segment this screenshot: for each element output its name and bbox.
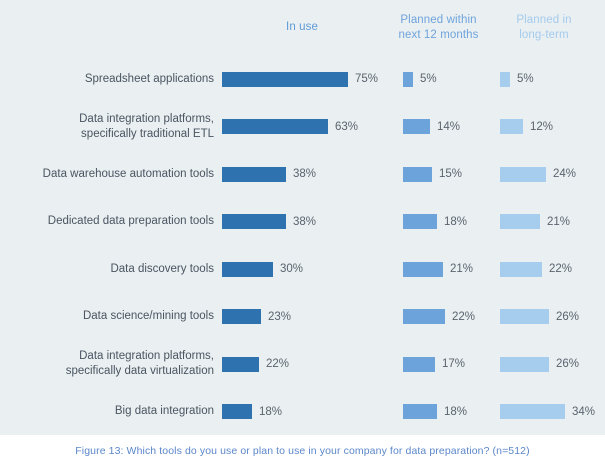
table-row: Data discovery tools30%21%22%: [0, 247, 605, 291]
bar-in-use: [222, 167, 286, 182]
bar-value-planned-long-term: 24%: [553, 168, 576, 180]
bar-group-planned-long-term: 22%: [500, 247, 572, 291]
row-label: Dedicated data preparation tools: [8, 200, 214, 244]
row-label: Data integration platforms,specifically …: [8, 105, 214, 149]
row-label-line1: Data discovery tools: [110, 262, 214, 277]
bar-planned-long-term: [500, 214, 540, 229]
bar-group-planned-12-months: 18%: [403, 200, 467, 244]
bar-group-in-use: 38%: [222, 152, 316, 196]
column-header-in-use: In use: [222, 20, 382, 35]
column-header-long-term: Planned in long-term: [494, 13, 594, 43]
bar-group-planned-12-months: 14%: [403, 105, 460, 149]
bar-planned-12-months: [403, 357, 435, 372]
figure-caption: Figure 13: Which tools do you use or pla…: [0, 445, 605, 457]
bar-value-planned-12-months: 22%: [452, 311, 475, 323]
table-row: Data science/mining tools23%22%26%: [0, 295, 605, 339]
bar-planned-long-term: [500, 404, 565, 419]
bar-in-use: [222, 357, 259, 372]
bar-value-in-use: 23%: [268, 311, 291, 323]
bar-value-planned-12-months: 18%: [444, 406, 467, 418]
bar-in-use: [222, 404, 252, 419]
bar-value-planned-long-term: 22%: [549, 263, 572, 275]
bar-in-use: [222, 72, 348, 87]
row-label-line1: Data warehouse automation tools: [43, 167, 214, 182]
bar-group-planned-long-term: 24%: [500, 152, 576, 196]
column-header-in-use-label: In use: [286, 21, 318, 33]
bar-value-in-use: 38%: [293, 216, 316, 228]
chart-panel: In use Planned within next 12 months Pla…: [0, 0, 605, 435]
row-label-line1: Dedicated data preparation tools: [48, 214, 214, 229]
row-label-line1: Data integration platforms,: [79, 349, 214, 364]
table-row: Data integration platforms,specifically …: [0, 105, 605, 149]
bar-in-use: [222, 262, 273, 277]
bar-value-planned-long-term: 12%: [530, 121, 553, 133]
bar-value-planned-12-months: 14%: [437, 121, 460, 133]
bar-value-planned-12-months: 15%: [439, 168, 462, 180]
row-label-line1: Spreadsheet applications: [85, 72, 214, 87]
row-label-line2: specifically traditional ETL: [81, 127, 214, 142]
bar-value-in-use: 63%: [335, 121, 358, 133]
bar-group-planned-long-term: 34%: [500, 390, 595, 434]
bar-group-planned-12-months: 22%: [403, 295, 475, 339]
column-header-planned-12-months-line1: Planned within: [400, 14, 476, 26]
column-header-long-term-line1: Planned in: [516, 14, 571, 26]
bar-planned-long-term: [500, 119, 523, 134]
bar-group-planned-long-term: 5%: [500, 57, 534, 101]
row-label: Data integration platforms,specifically …: [8, 342, 214, 386]
bar-planned-12-months: [403, 119, 430, 134]
bar-value-planned-12-months: 5%: [420, 73, 437, 85]
bar-planned-long-term: [500, 262, 542, 277]
bar-group-in-use: 75%: [222, 57, 378, 101]
bar-value-planned-long-term: 26%: [556, 311, 579, 323]
column-header-long-term-line2: long-term: [519, 29, 568, 41]
bar-in-use: [222, 309, 261, 324]
row-label-line1: Big data integration: [115, 404, 214, 419]
row-label-line1: Data science/mining tools: [83, 309, 214, 324]
bar-value-planned-long-term: 34%: [572, 406, 595, 418]
bar-group-in-use: 18%: [222, 390, 282, 434]
bar-planned-12-months: [403, 72, 413, 87]
column-header-planned-12-months: Planned within next 12 months: [386, 13, 491, 43]
column-header-planned-12-months-line2: next 12 months: [398, 29, 478, 41]
bar-in-use: [222, 214, 286, 229]
bar-planned-long-term: [500, 167, 546, 182]
bar-value-planned-12-months: 18%: [444, 216, 467, 228]
bar-value-in-use: 30%: [280, 263, 303, 275]
bar-group-in-use: 38%: [222, 200, 316, 244]
bar-group-in-use: 22%: [222, 342, 289, 386]
bar-planned-12-months: [403, 404, 437, 419]
bar-value-in-use: 18%: [259, 406, 282, 418]
row-label: Big data integration: [8, 390, 214, 434]
bar-value-in-use: 75%: [355, 73, 378, 85]
bar-group-planned-long-term: 26%: [500, 342, 579, 386]
bar-group-planned-12-months: 15%: [403, 152, 462, 196]
bar-group-planned-long-term: 26%: [500, 295, 579, 339]
bar-group-in-use: 63%: [222, 105, 358, 149]
bar-value-planned-long-term: 26%: [556, 358, 579, 370]
bar-in-use: [222, 119, 328, 134]
row-label: Data discovery tools: [8, 247, 214, 291]
bar-group-planned-12-months: 18%: [403, 390, 467, 434]
bar-group-in-use: 30%: [222, 247, 303, 291]
bar-group-planned-long-term: 12%: [500, 105, 553, 149]
row-label: Spreadsheet applications: [8, 57, 214, 101]
row-label: Data warehouse automation tools: [8, 152, 214, 196]
bar-group-planned-long-term: 21%: [500, 200, 570, 244]
bar-value-in-use: 22%: [266, 358, 289, 370]
bar-planned-long-term: [500, 357, 549, 372]
bar-value-planned-long-term: 21%: [547, 216, 570, 228]
table-row: Data integration platforms,specifically …: [0, 342, 605, 386]
bar-planned-long-term: [500, 72, 510, 87]
bar-value-planned-12-months: 21%: [450, 263, 473, 275]
bar-planned-12-months: [403, 309, 445, 324]
bar-group-in-use: 23%: [222, 295, 291, 339]
bar-value-in-use: 38%: [293, 168, 316, 180]
bar-group-planned-12-months: 17%: [403, 342, 465, 386]
row-label-line1: Data integration platforms,: [79, 112, 214, 127]
table-row: Data warehouse automation tools38%15%24%: [0, 152, 605, 196]
bar-group-planned-12-months: 5%: [403, 57, 437, 101]
bar-value-planned-long-term: 5%: [517, 73, 534, 85]
bar-planned-long-term: [500, 309, 549, 324]
row-label-line2: specifically data virtualization: [66, 364, 214, 379]
row-label: Data science/mining tools: [8, 295, 214, 339]
table-row: Big data integration18%18%34%: [0, 390, 605, 434]
table-row: Spreadsheet applications75%5%5%: [0, 57, 605, 101]
bar-group-planned-12-months: 21%: [403, 247, 473, 291]
bar-planned-12-months: [403, 167, 432, 182]
bar-planned-12-months: [403, 262, 443, 277]
table-row: Dedicated data preparation tools38%18%21…: [0, 200, 605, 244]
bar-value-planned-12-months: 17%: [442, 358, 465, 370]
bar-planned-12-months: [403, 214, 437, 229]
